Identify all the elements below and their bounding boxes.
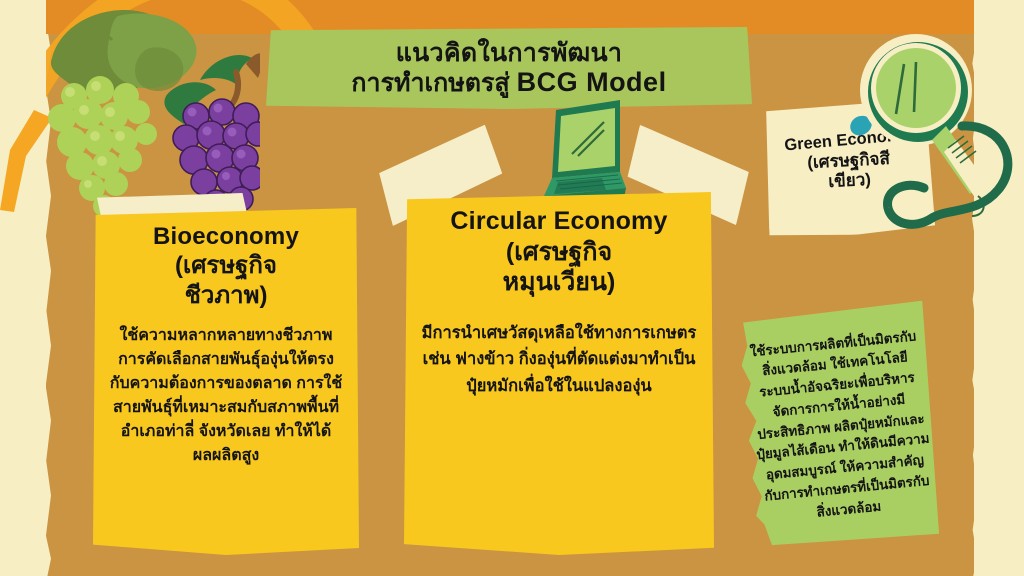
card-bioeconomy-body: ใช้ความหลากหลายทางชีวภาพ การคัดเลือกสายพ… [109,324,343,468]
card-circular-economy[interactable]: Circular Economy (เศรษฐกิจ หมุนเวียน) มี… [404,192,714,555]
card-bioeconomy-title-en: Bioeconomy [105,222,347,251]
page-title-line-1: แนวคิดในการพัฒนา [396,39,623,67]
green-economy-description-block: ใช้ระบบการผลิตที่เป็นมิตรกับสิ่งแวดล้อม … [737,301,945,554]
card-circular-economy-body: มีการนำเศษวัสดุเหลือใช้ทางการเกษตร เช่น … [420,320,698,400]
infographic-canvas: แนวคิดในการพัฒนา การทำเกษตรสู่ BCG Model [0,0,1024,576]
card-circular-economy-title-th-line1: (เศรษฐกิจ [416,237,702,268]
card-bioeconomy[interactable]: Bioeconomy (เศรษฐกิจ ชีวภาพ) ใช้ความหลาก… [93,208,359,555]
page-title-line-2: การทำเกษตรสู่ BCG Model [351,67,666,97]
card-bioeconomy-title-th-line2: ชีวภาพ) [105,281,347,310]
card-circular-economy-title-th-line2: หมุนเวียน) [416,267,702,298]
magnifying-glass-icon [852,18,1024,248]
card-circular-economy-title-en: Circular Economy [416,206,702,237]
page-title-bcg-model: BCG Model [517,67,667,97]
green-economy-description-text: ใช้ระบบการผลิตที่เป็นมิตรกับสิ่งแวดล้อม … [745,326,936,529]
page-title-line-2-prefix: การทำเกษตรสู่ [351,69,516,97]
card-bioeconomy-title-th-line1: (เศรษฐกิจ [105,251,347,280]
